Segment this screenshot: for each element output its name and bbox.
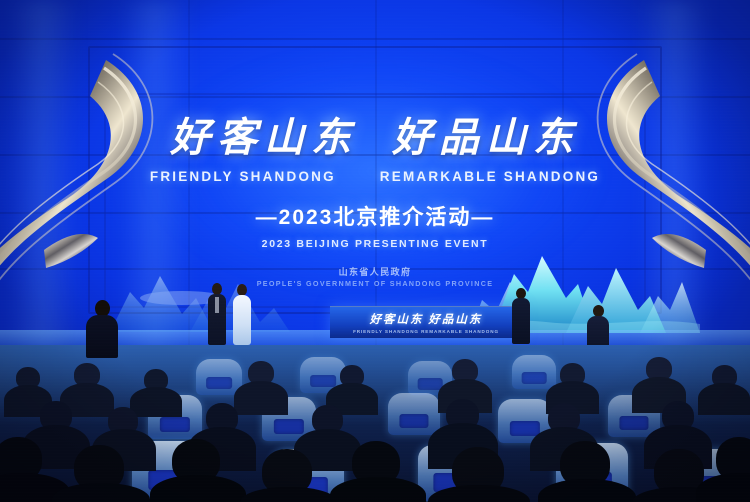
audience-body: [234, 381, 288, 415]
main-title-chinese: 好客山东 好品山东: [0, 118, 750, 158]
audience-chair: [196, 359, 242, 395]
audience-body: [150, 475, 246, 502]
audience-body: [330, 477, 426, 502]
title-cn-right: 好品山东: [392, 118, 580, 158]
podium-sign: 好客山东 好品山东 FRIENDLY SHANDONG REMARKABLE S…: [330, 306, 522, 338]
audience-chair: [388, 393, 440, 435]
organizer-english: PEOPLE'S GOVERNMENT OF SHANDONG PROVINCE: [0, 279, 750, 288]
event-photo: 好客山东 好品山东 FRIENDLY SHANDONG REMARKABLE S…: [0, 0, 750, 502]
stage-host-male: [206, 283, 228, 345]
title-en-left: FRIENDLY SHANDONG: [150, 169, 336, 184]
audience-body: [698, 383, 750, 415]
mountain-graphic-left-icon: [110, 252, 290, 332]
audience-body: [130, 387, 182, 417]
standing-attendee-left: [86, 300, 118, 358]
stage-figure-left: [511, 288, 531, 344]
podium-title-english: FRIENDLY SHANDONG REMARKABLE SHANDONG: [353, 329, 499, 334]
main-title-english: FRIENDLY SHANDONG REMARKABLE SHANDONG: [0, 169, 750, 184]
audience-area: [0, 345, 750, 502]
organizer-chinese: 山东省人民政府: [0, 265, 750, 278]
event-title-english: 2023 BEIJING PRESENTING EVENT: [0, 238, 750, 250]
event-title-chinese: —2023北京推介活动—: [0, 201, 750, 231]
title-en-right: REMARKABLE SHANDONG: [380, 169, 600, 184]
stage-host-female: [231, 284, 253, 345]
podium-title-chinese: 好客山东 好品山东: [370, 311, 483, 327]
audience-chair: [512, 355, 556, 389]
backdrop-title-block: 好客山东 好品山东 FRIENDLY SHANDONG REMARKABLE S…: [0, 118, 750, 250]
title-cn-left: 好客山东: [170, 118, 358, 158]
